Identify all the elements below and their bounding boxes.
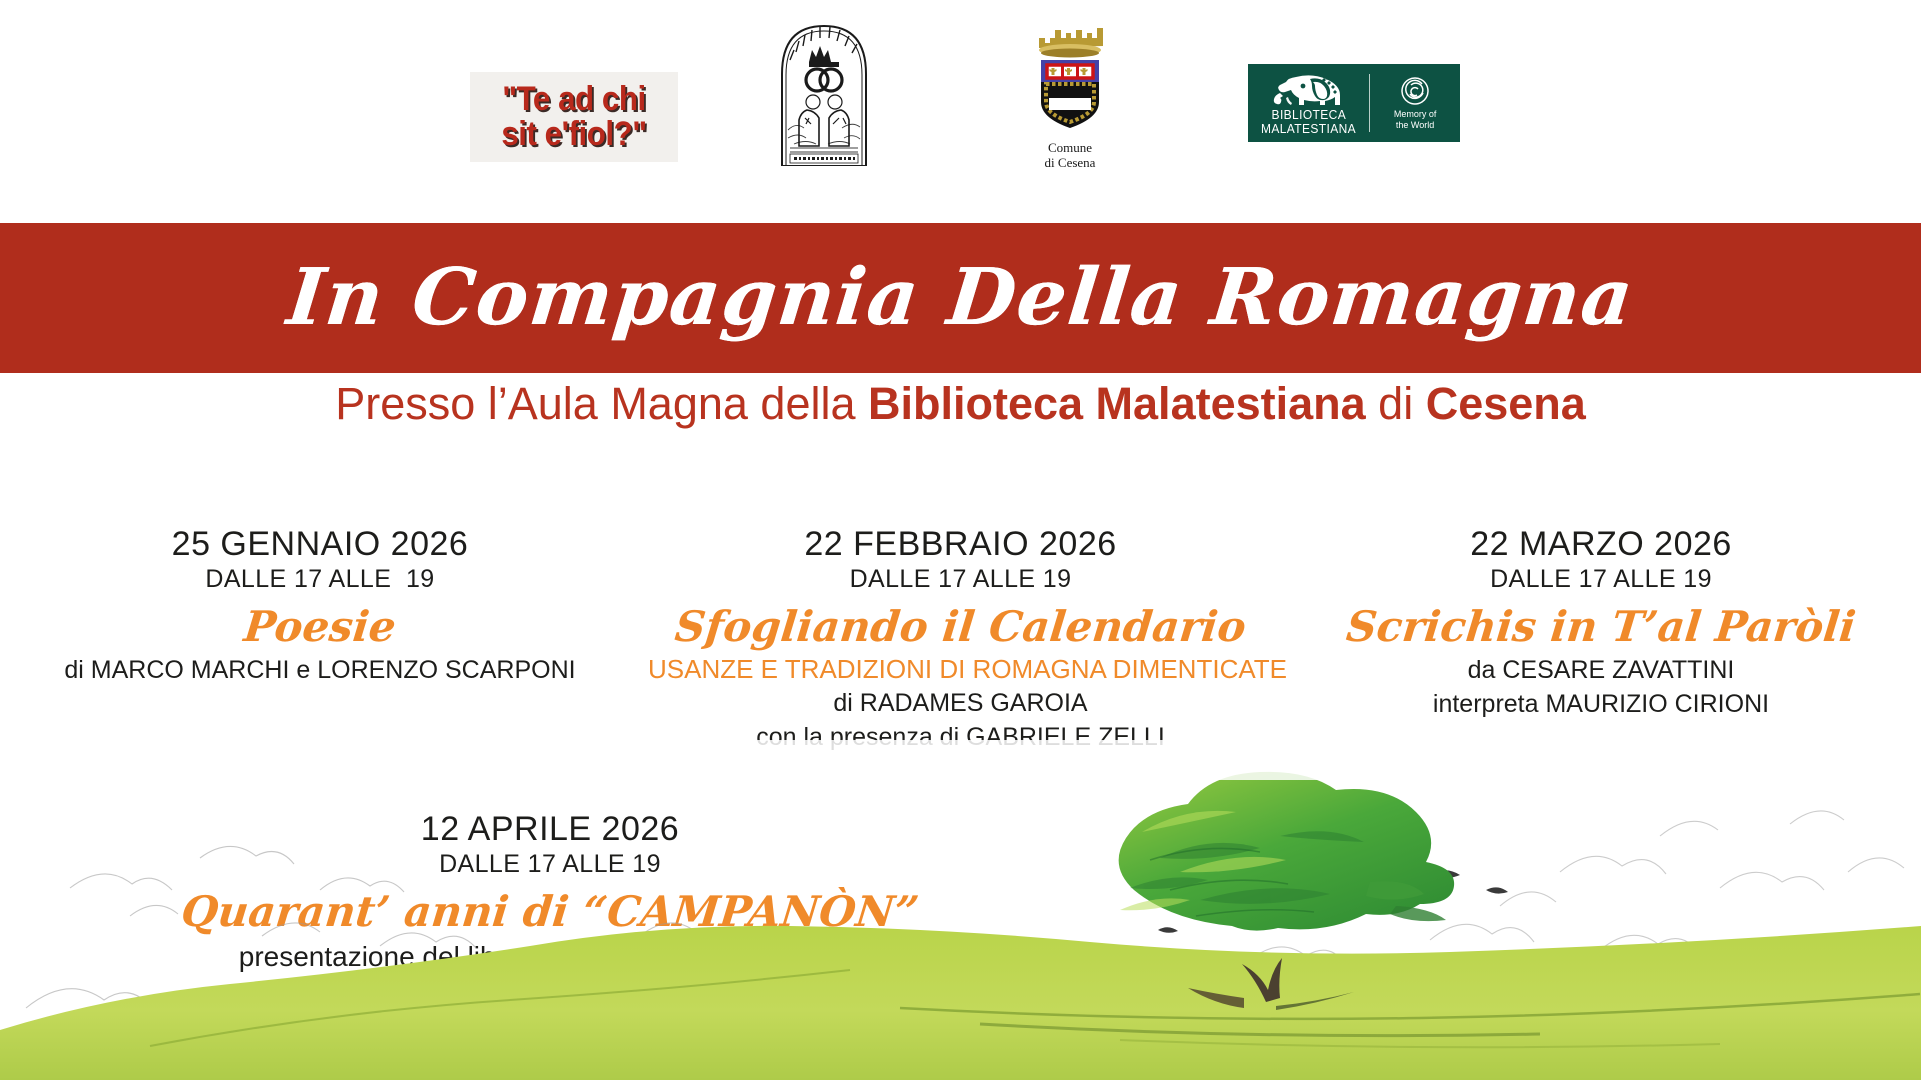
tree-trunk <box>1188 958 1354 1010</box>
logo-te-ad-chi-sit-e-fiol: "Te ad chi sit e'fiol?" <box>470 72 678 162</box>
event-date: 22 FEBBRAIO 2026 <box>648 525 1273 563</box>
sketch-clouds-right <box>1250 811 1904 980</box>
mural-crown <box>1039 28 1103 58</box>
event-title: Poesie <box>5 602 634 652</box>
venue-subtitle-part2: di <box>1366 378 1426 429</box>
event-credit-line: presentazione del libro di FRANCO DELL’A… <box>0 939 1100 975</box>
poster: "Te ad chi sit e'fiol?" <box>0 0 1921 1080</box>
logo-engraving-emblem <box>776 18 872 166</box>
event-credit-line: con la presenza di GABRIELE ZELLI <box>648 721 1273 754</box>
event-subtitle: USANZE E TRADIZIONI DI ROMAGNA DIMENTICA… <box>648 654 1273 685</box>
event-item-4: 12 APRILE 2026 DALLE 17 ALLE 19 Quarant’… <box>0 810 1100 975</box>
biblioteca-name-line-2: MALATESTIANA <box>1261 123 1356 136</box>
event-time: DALLE 17 ALLE 19 <box>648 564 1273 594</box>
event-credit-line: di MARCO MARCHI e LORENZO SCARPONI <box>8 654 632 687</box>
mow-line-2: the World <box>1394 120 1437 130</box>
event-title: Quarant’ anni di “CAMPANÒN” <box>0 887 1103 937</box>
event-title: Scrichis in T’al Paròli <box>1286 602 1915 652</box>
comune-caption-line-1: Comune <box>1045 141 1096 156</box>
venue-subtitle: Presso l’Aula Magna della Biblioteca Mal… <box>0 380 1921 427</box>
events-list: 25 GENNAIO 2026 DALLE 17 ALLE 19 Poesie … <box>0 525 1921 754</box>
page-title: In Compagnia Della Romagna <box>284 259 1638 337</box>
event-item-1: 25 GENNAIO 2026 DALLE 17 ALLE 19 Poesie … <box>0 525 640 754</box>
slogan-line-1: "Te ad chi <box>502 82 645 117</box>
logo-biblioteca-malatestiana: BIBLIOTECA MALATESTIANA Memory of the Wo… <box>1248 64 1460 142</box>
venue-subtitle-bold2: Cesena <box>1426 378 1586 429</box>
mow-caption: Memory of the World <box>1394 109 1437 129</box>
event-credit-line: da CESARE ZAVATTINI <box>1289 654 1913 687</box>
mow-line-1: Memory of <box>1394 109 1437 119</box>
event-time: DALLE 17 ALLE 19 <box>8 564 632 594</box>
slogan-line-2: sit e'fiol?" <box>501 117 646 152</box>
tree-canopy <box>1119 772 1454 931</box>
logo-comune-di-cesena: Comune di Cesena <box>1018 22 1122 172</box>
event-item-2: 22 FEBBRAIO 2026 DALLE 17 ALLE 19 Sfogli… <box>640 525 1281 754</box>
event-credit-line: di RADAMES GAROIA <box>648 687 1273 720</box>
event-item-3: 22 MARZO 2026 DALLE 17 ALLE 19 Scrichis … <box>1281 525 1921 754</box>
event-date: 25 GENNAIO 2026 <box>8 525 632 563</box>
memory-of-the-world-spiral-icon <box>1400 76 1430 106</box>
event-time: DALLE 17 ALLE 19 <box>0 849 1100 879</box>
event-time: DALLE 17 ALLE 19 <box>1289 564 1913 594</box>
venue-subtitle-bold1: Biblioteca Malatestiana <box>868 378 1366 429</box>
event-title: Sfogliando il Calendario <box>645 602 1275 652</box>
biblioteca-name-line-1: BIBLIOTECA <box>1271 109 1346 122</box>
events-row-1: 25 GENNAIO 2026 DALLE 17 ALLE 19 Poesie … <box>0 525 1921 754</box>
comune-caption: Comune di Cesena <box>1045 141 1096 170</box>
venue-subtitle-part1: Presso l’Aula Magna della <box>335 378 868 429</box>
logo-row: "Te ad chi sit e'fiol?" <box>0 0 1921 222</box>
title-banner: In Compagnia Della Romagna <box>0 223 1921 373</box>
event-credit-line: interpreta MAURIZIO CIRIONI <box>1289 688 1913 721</box>
event-date: 22 MARZO 2026 <box>1289 525 1913 563</box>
bird-marks <box>1158 793 1508 933</box>
event-date: 12 APRILE 2026 <box>0 810 1100 848</box>
elephant-icon <box>1266 73 1352 107</box>
comune-caption-line-2: di Cesena <box>1045 156 1096 171</box>
